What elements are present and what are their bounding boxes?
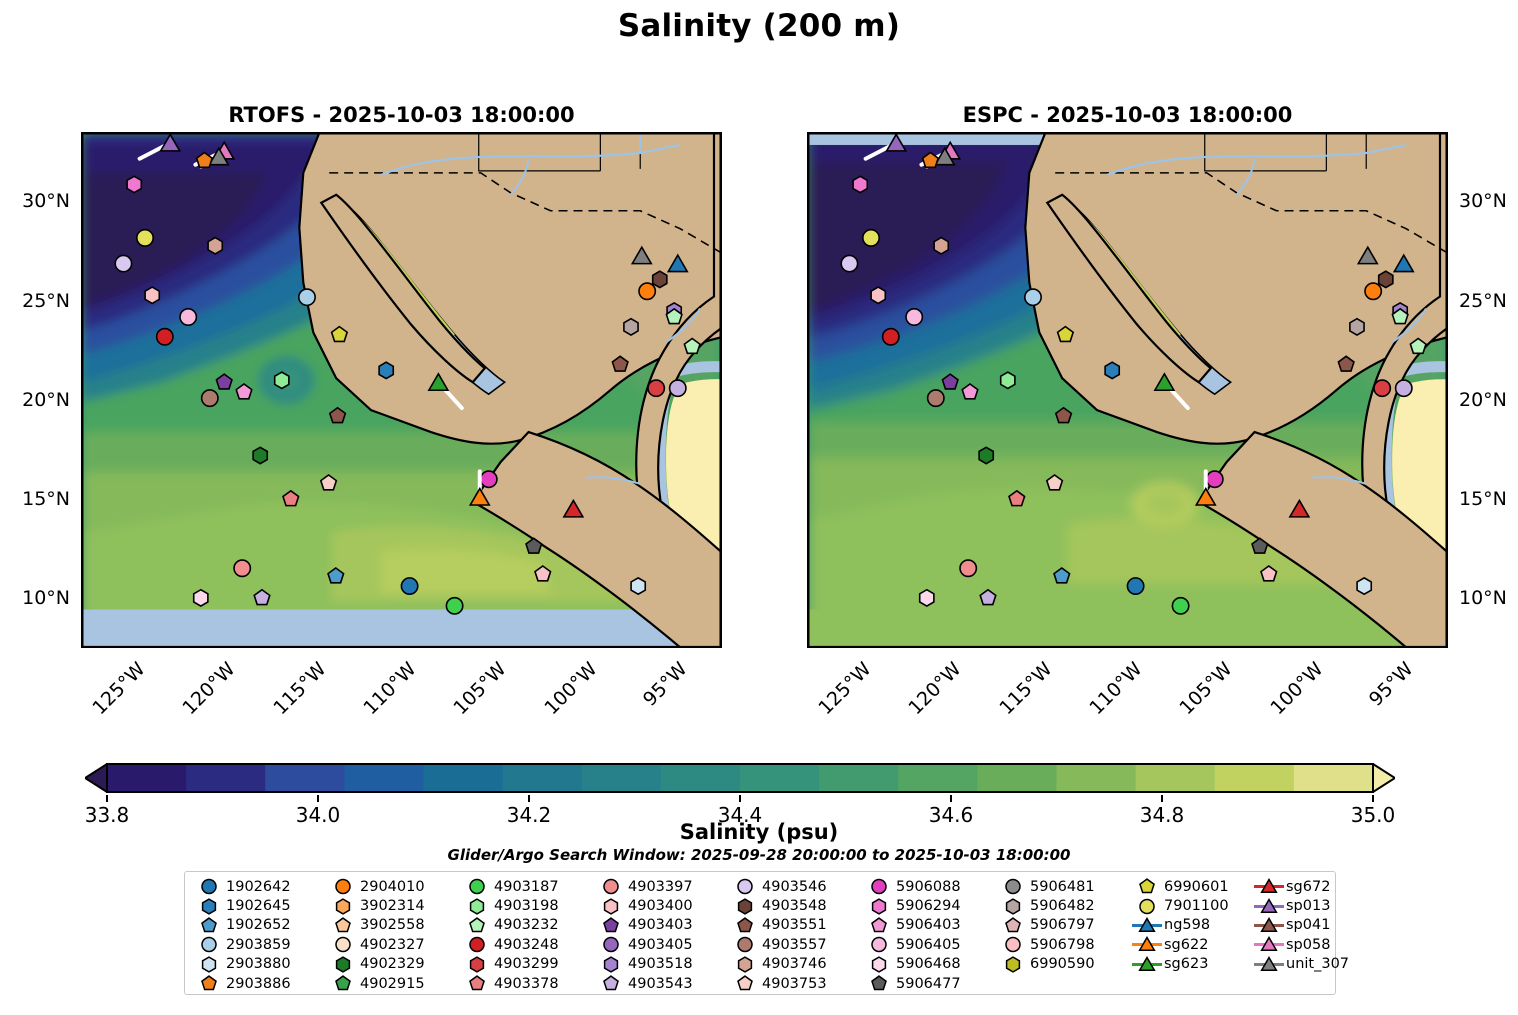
observation-marker-4903232b[interactable] — [684, 338, 700, 353]
y-tick-minor — [721, 380, 722, 381]
legend-item-4902329[interactable]: 4902329 — [326, 955, 460, 974]
y-tick-minor — [81, 162, 82, 163]
x-tick-minor — [1340, 132, 1341, 133]
colorbar-band — [1057, 764, 1137, 792]
observation-marker-4902329[interactable] — [253, 447, 267, 463]
colorbar-band — [344, 764, 424, 792]
observation-marker-4903543[interactable] — [980, 590, 996, 605]
y-tick-minor — [807, 242, 808, 243]
legend-item-4903546[interactable]: 4903546 — [728, 877, 862, 896]
observation-marker-4903548[interactable] — [653, 271, 667, 287]
y-tick-minor — [721, 579, 722, 580]
observation-marker-4903557[interactable] — [928, 390, 944, 406]
observation-marker-4903543[interactable] — [254, 590, 270, 605]
y-tick-minor — [721, 222, 722, 223]
x-tick-minor — [560, 647, 561, 648]
legend-item-6990601[interactable]: 6990601 — [1130, 877, 1252, 896]
map-rtofs[interactable] — [81, 132, 722, 648]
observation-marker-unit_307[interactable] — [1358, 247, 1377, 263]
legend-label: unit_307 — [1286, 956, 1349, 972]
y-tick — [1447, 400, 1448, 402]
observation-marker-1902642[interactable] — [1127, 578, 1143, 594]
x-tick-top — [1213, 132, 1215, 133]
y-tick-minor — [807, 222, 808, 223]
legend-item-sp041[interactable]: sp041 — [1252, 916, 1349, 935]
x-tick-top — [1123, 132, 1125, 133]
legend-item-2903886[interactable]: 2903886 — [192, 974, 326, 993]
legend-item-4902915[interactable]: 4902915 — [326, 974, 460, 993]
legend-label: 5906482 — [1030, 898, 1130, 914]
legend-item-sp058[interactable]: sp058 — [1252, 935, 1349, 954]
legend-item-4903299[interactable]: 4903299 — [460, 955, 594, 974]
x-tick-label: 125°W — [88, 658, 149, 719]
x-tick-minor — [1105, 132, 1106, 133]
x-tick-minor — [433, 132, 434, 133]
legend-item-5906468[interactable]: 5906468 — [862, 955, 996, 974]
y-tick-minor — [721, 142, 722, 143]
legend-swatch-circle-icon — [996, 935, 1030, 954]
legend-label: 5906405 — [896, 937, 996, 953]
observation-marker-sp013[interactable] — [161, 134, 180, 150]
x-tick-minor — [415, 647, 416, 648]
observation-marker-sg622[interactable] — [470, 489, 489, 505]
y-tick-minor — [1447, 281, 1448, 282]
y-tick — [807, 301, 808, 303]
x-tick — [126, 647, 128, 648]
observation-marker-sg672[interactable] — [1290, 500, 1309, 516]
observation-marker-5906405[interactable] — [180, 309, 196, 325]
legend-item-4903557[interactable]: 4903557 — [728, 935, 862, 954]
y-tick-minor — [807, 619, 808, 620]
y-tick-minor — [807, 440, 808, 441]
observation-marker-7901100[interactable] — [137, 230, 153, 246]
colorbar-band — [265, 764, 345, 792]
observation-marker-5906482[interactable] — [624, 319, 638, 335]
legend-label: 4903405 — [628, 937, 728, 953]
observation-marker-4903400b[interactable] — [1261, 566, 1277, 581]
y-tick-minor — [1447, 559, 1448, 560]
observation-marker-unit_307[interactable] — [632, 247, 651, 263]
observation-marker-4903403[interactable] — [216, 374, 232, 389]
legend-swatch-hexagon-icon — [728, 897, 762, 916]
y-tick-minor — [1447, 519, 1448, 520]
x-tick-minor — [145, 132, 146, 133]
observation-marker-5906468[interactable] — [920, 590, 934, 606]
legend-item-4903405[interactable]: 4903405 — [594, 935, 728, 954]
observation-marker-4903405[interactable] — [1396, 380, 1412, 396]
y-tick — [721, 499, 722, 501]
legend-item-4903543[interactable]: 4903543 — [594, 974, 728, 993]
y-tick-minor — [81, 222, 82, 223]
legend-item-4903400[interactable]: 4903400 — [594, 896, 728, 915]
x-tick-minor — [907, 647, 908, 648]
observation-marker-4903551b[interactable] — [1338, 356, 1354, 371]
observation-marker-5906482[interactable] — [1350, 319, 1364, 335]
y-tick-minor — [1447, 579, 1448, 580]
x-tick-minor — [704, 647, 705, 648]
legend-label: sg672 — [1286, 879, 1330, 895]
legend-label: 4903378 — [494, 976, 594, 992]
legend-label: 5906403 — [896, 917, 996, 933]
colorbar-band — [740, 764, 820, 792]
y-tick-minor — [807, 321, 808, 322]
y-tick-minor — [807, 281, 808, 282]
legend-item-5906405[interactable]: 5906405 — [862, 935, 996, 954]
x-tick — [943, 647, 945, 648]
y-tick-label: 10°N — [22, 587, 70, 609]
legend-item-4903248[interactable]: 4903248 — [460, 935, 594, 954]
observation-marker-7901100[interactable] — [863, 230, 879, 246]
legend-item-sp013[interactable]: sp013 — [1252, 896, 1349, 915]
legend-label: sp058 — [1286, 937, 1330, 953]
x-tick-minor — [325, 132, 326, 133]
legend-label: 2903859 — [226, 937, 326, 953]
y-tick-minor — [807, 162, 808, 163]
observation-marker-5906088[interactable] — [1207, 471, 1223, 487]
x-tick-minor — [1322, 647, 1323, 648]
x-tick — [1123, 647, 1125, 648]
observation-marker-4903548[interactable] — [1379, 271, 1393, 287]
x-tick-top — [852, 132, 854, 133]
observation-marker-1902645[interactable] — [379, 362, 393, 378]
y-tick-minor — [1447, 261, 1448, 262]
colorbar-band — [424, 764, 504, 792]
legend-label: 4903232 — [494, 917, 594, 933]
observation-marker-4903405[interactable] — [670, 380, 686, 396]
y-tick — [721, 400, 722, 402]
legend-label: 4903548 — [762, 898, 862, 914]
observation-marker-1902642[interactable] — [401, 578, 417, 594]
panel-rtofs-title: RTOFS - 2025-10-03 18:00:00 — [81, 103, 722, 132]
observation-marker-sp013[interactable] — [887, 134, 906, 150]
observation-marker-2903859[interactable] — [1025, 289, 1041, 305]
observation-marker-4903400b[interactable] — [535, 566, 551, 581]
y-tick-minor — [807, 182, 808, 183]
legend-swatch-hexagon-icon — [996, 897, 1030, 916]
legend-column-3: 4903187490319849032324903248490329949033… — [460, 877, 594, 993]
observation-marker-5906477[interactable] — [1252, 538, 1268, 553]
x-tick-label: 110°W — [359, 658, 420, 719]
x-tick-label: 115°W — [995, 658, 1056, 719]
legend-column-9: sg672sp013sp041sp058unit_307 — [1252, 877, 1349, 993]
observation-marker-5906088[interactable] — [481, 471, 497, 487]
panel-espc: ESPC - 2025-10-03 18:00:00 — [807, 132, 1448, 648]
legend-item-3902314[interactable]: 3902314 — [326, 896, 460, 915]
legend-item-5906798[interactable]: 5906798 — [996, 935, 1130, 954]
legend-item-sg672[interactable]: sg672 — [1252, 877, 1349, 896]
legend-item-5906294[interactable]: 5906294 — [862, 896, 996, 915]
x-tick-label: 105°W — [1176, 658, 1237, 719]
y-tick-minor — [1447, 440, 1448, 441]
colorbar-band — [819, 764, 899, 792]
observation-marker-1902652[interactable] — [1054, 568, 1070, 583]
observation-marker-1902645[interactable] — [1105, 362, 1119, 378]
observation-marker-4903551[interactable] — [330, 408, 346, 423]
legend-item-1902652[interactable]: 1902652 — [192, 916, 326, 935]
x-tick-minor — [1141, 647, 1142, 648]
y-tick-minor — [81, 361, 82, 362]
observation-marker-1902652[interactable] — [328, 568, 344, 583]
y-tick-minor — [81, 261, 82, 262]
observation-marker-5906477[interactable] — [526, 538, 542, 553]
legend-item-4903753[interactable]: 4903753 — [728, 974, 862, 993]
legend-swatch-hexagon-icon — [996, 955, 1030, 974]
x-tick-minor — [816, 132, 817, 133]
observation-marker-4903232b[interactable] — [1410, 338, 1426, 353]
legend-label: 4902329 — [360, 956, 460, 972]
x-tick-minor — [596, 132, 597, 133]
x-tick-minor — [889, 647, 890, 648]
y-tick-minor — [721, 539, 722, 540]
legend-label: 4903746 — [762, 956, 862, 972]
legend-swatch-triangle-line-icon — [1252, 935, 1286, 954]
y-tick-minor — [1447, 162, 1448, 163]
observation-marker-4903546[interactable] — [115, 255, 131, 271]
x-tick-minor — [90, 647, 91, 648]
y-tick-minor — [721, 261, 722, 262]
legend-label: 4903198 — [494, 898, 594, 914]
observation-marker-sg623[interactable] — [1155, 374, 1174, 390]
legend-label: sg622 — [1164, 937, 1252, 953]
y-tick-minor — [1447, 380, 1448, 381]
legend-label: 5906294 — [896, 898, 996, 914]
x-tick-minor — [686, 132, 687, 133]
y-tick — [81, 499, 82, 501]
legend-label: 4902915 — [360, 976, 460, 992]
legend-label: 1902645 — [226, 898, 326, 914]
legend-item-unit_307[interactable]: unit_307 — [1252, 955, 1349, 974]
legend-item-4903518[interactable]: 4903518 — [594, 955, 728, 974]
y-tick — [721, 202, 722, 204]
observation-marker-2903886[interactable] — [923, 153, 939, 168]
legend-label: sp013 — [1286, 898, 1330, 914]
figure-title: Salinity (200 m) — [0, 8, 1518, 44]
legend-item-2903880[interactable]: 2903880 — [192, 955, 326, 974]
observation-marker-4903198[interactable] — [1001, 372, 1015, 388]
legend-label: 4903248 — [494, 937, 594, 953]
observation-marker-sg623[interactable] — [429, 374, 448, 390]
observation-markers-rtofs[interactable] — [82, 133, 721, 647]
x-tick-minor — [1268, 647, 1269, 648]
x-tick-minor — [379, 132, 380, 133]
observation-marker-2903886[interactable] — [197, 153, 213, 168]
legend-item-4903403[interactable]: 4903403 — [594, 916, 728, 935]
observation-marker-4903753[interactable] — [1047, 475, 1063, 490]
x-tick-minor — [1141, 132, 1142, 133]
observation-marker-5906403[interactable] — [962, 384, 978, 399]
legend-item-4903232[interactable]: 4903232 — [460, 916, 594, 935]
legend-swatch-hexagon-icon — [728, 955, 762, 974]
legend-item-3902558[interactable]: 3902558 — [326, 916, 460, 935]
observation-marker-4902329[interactable] — [979, 447, 993, 463]
observation-marker-5906294[interactable] — [853, 176, 867, 192]
x-tick-minor — [1159, 647, 1160, 648]
y-tick-minor — [81, 341, 82, 342]
observation-marker-4903248[interactable] — [883, 329, 899, 345]
legend-item-5906477[interactable]: 5906477 — [862, 974, 996, 993]
legend-label: 1902652 — [226, 917, 326, 933]
x-tick — [1213, 647, 1215, 648]
legend-item-sg622[interactable]: sg622 — [1130, 935, 1252, 954]
observation-marker-4903400[interactable] — [145, 287, 159, 303]
x-tick-minor — [1069, 132, 1070, 133]
y-tick — [1447, 202, 1448, 204]
legend-swatch-circle-icon — [326, 877, 360, 896]
legend-item-1902642[interactable]: 1902642 — [192, 877, 326, 896]
x-tick-minor — [997, 647, 998, 648]
y-tick — [1447, 301, 1448, 303]
observation-marker-2904010[interactable] — [1365, 283, 1381, 299]
y-tick-minor — [1447, 222, 1448, 223]
observation-marker-sg672[interactable] — [564, 500, 583, 516]
observation-marker-sg622[interactable] — [1196, 489, 1215, 505]
observation-marker-5906468[interactable] — [194, 590, 208, 606]
observation-marker-4903397[interactable] — [960, 560, 976, 576]
legend-item-2904010[interactable]: 2904010 — [326, 877, 460, 896]
x-tick — [1394, 647, 1396, 648]
legend-item-4903548[interactable]: 4903548 — [728, 896, 862, 915]
x-tick-label: 110°W — [1085, 658, 1146, 719]
legend-item-5906797[interactable]: 5906797 — [996, 916, 1130, 935]
legend-item-7901100[interactable]: 7901100 — [1130, 896, 1252, 915]
x-tick — [668, 647, 670, 648]
legend-item-6990590[interactable]: 6990590 — [996, 955, 1130, 974]
observation-marker-4903403[interactable] — [942, 374, 958, 389]
y-tick-minor — [807, 559, 808, 560]
x-tick-minor — [1250, 132, 1251, 133]
x-tick-minor — [1232, 647, 1233, 648]
map-espc[interactable] — [807, 132, 1448, 648]
observation-marker-4903187[interactable] — [1172, 598, 1188, 614]
observation-marker-5906405[interactable] — [906, 309, 922, 325]
legend-label: 6990590 — [1030, 956, 1130, 972]
y-tick-minor — [807, 142, 808, 143]
observation-marker-4903551b[interactable] — [612, 356, 628, 371]
observation-marker-4903248[interactable] — [157, 329, 173, 345]
observation-marker-4903746[interactable] — [208, 238, 222, 254]
y-tick-minor — [81, 638, 82, 639]
legend-swatch-hexagon-icon — [862, 897, 896, 916]
observation-marker-ng598[interactable] — [1394, 255, 1413, 271]
y-tick-minor — [1447, 182, 1448, 183]
x-tick-minor — [1015, 132, 1016, 133]
y-tick-minor — [721, 480, 722, 481]
observation-marker-6990601[interactable] — [1058, 327, 1074, 342]
colorbar-band — [661, 764, 741, 792]
legend-swatch-pentagon-icon — [460, 974, 494, 993]
observation-marker-6990601[interactable] — [332, 327, 348, 342]
observation-marker-4903753[interactable] — [321, 475, 337, 490]
x-tick — [307, 647, 309, 648]
observation-marker-5906294[interactable] — [127, 176, 141, 192]
y-tick-minor — [1447, 460, 1448, 461]
legend-swatch-pentagon-icon — [594, 916, 628, 935]
legend-item-5906481[interactable]: 5906481 — [996, 877, 1130, 896]
y-tick-minor — [81, 182, 82, 183]
x-tick-top — [1394, 132, 1396, 133]
observation-marker-2903880[interactable] — [1357, 578, 1371, 594]
observation-marker-2903880[interactable] — [631, 578, 645, 594]
legend-item-ng598[interactable]: ng598 — [1130, 916, 1252, 935]
x-tick-minor — [871, 647, 872, 648]
x-tick-top — [668, 132, 670, 133]
y-tick — [807, 202, 808, 204]
observation-marker-5906403[interactable] — [236, 384, 252, 399]
legend-label: 5906481 — [1030, 879, 1130, 895]
observation-marker-4903557[interactable] — [202, 390, 218, 406]
observation-marker-4903551[interactable] — [1056, 408, 1072, 423]
x-tick-top — [126, 132, 128, 133]
observation-marker-4903378[interactable] — [283, 491, 299, 506]
legend-item-4903551[interactable]: 4903551 — [728, 916, 862, 935]
y-tick-minor — [807, 361, 808, 362]
observation-marker-4903378[interactable] — [1009, 491, 1025, 506]
legend-item-4903378[interactable]: 4903378 — [460, 974, 594, 993]
observation-marker-4903546[interactable] — [841, 255, 857, 271]
legend-item-4903746[interactable]: 4903746 — [728, 955, 862, 974]
legend-label: ng598 — [1164, 917, 1252, 933]
legend-swatch-hexagon-icon — [594, 955, 628, 974]
observation-marker-4903187[interactable] — [446, 598, 462, 614]
observation-marker-4903746[interactable] — [934, 238, 948, 254]
legend-swatch-triangle-line-icon — [1130, 935, 1164, 954]
legend-item-4903187[interactable]: 4903187 — [460, 877, 594, 896]
legend-label: 4903397 — [628, 879, 728, 895]
legend-item-sg623[interactable]: sg623 — [1130, 955, 1252, 974]
legend-item-4903198[interactable]: 4903198 — [460, 896, 594, 915]
legend-item-5906088[interactable]: 5906088 — [862, 877, 996, 896]
x-tick-minor — [235, 647, 236, 648]
y-tick-minor — [721, 440, 722, 441]
legend-item-5906403[interactable]: 5906403 — [862, 916, 996, 935]
x-tick-minor — [907, 132, 908, 133]
y-tick-minor — [721, 460, 722, 461]
colorbar-band — [977, 764, 1057, 792]
x-tick-minor — [596, 647, 597, 648]
observation-marker-ng598[interactable] — [668, 255, 687, 271]
x-tick-minor — [1232, 132, 1233, 133]
x-tick-minor — [1069, 647, 1070, 648]
legend-swatch-hexagon-icon — [460, 955, 494, 974]
observation-marker-4903299[interactable] — [648, 380, 664, 396]
observation-markers-espc[interactable] — [808, 133, 1447, 647]
legend-item-5906482[interactable]: 5906482 — [996, 896, 1130, 915]
legend-swatch-circle-icon — [996, 877, 1030, 896]
observation-marker-2903859[interactable] — [299, 289, 315, 305]
observation-marker-2904010[interactable] — [639, 283, 655, 299]
legend-swatch-pentagon-icon — [460, 916, 494, 935]
x-tick-minor — [343, 647, 344, 648]
x-tick-minor — [1087, 647, 1088, 648]
observation-marker-4903400[interactable] — [871, 287, 885, 303]
x-tick-label: 120°W — [179, 658, 240, 719]
y-tick-minor — [807, 480, 808, 481]
observation-marker-4903299[interactable] — [1374, 380, 1390, 396]
legend-item-1902645[interactable]: 1902645 — [192, 896, 326, 915]
x-tick — [217, 647, 219, 648]
legend-item-4903397[interactable]: 4903397 — [594, 877, 728, 896]
observation-marker-4903198[interactable] — [275, 372, 289, 388]
y-tick-minor — [721, 242, 722, 243]
legend-label: 4903187 — [494, 879, 594, 895]
legend-label: 4903400 — [628, 898, 728, 914]
legend-item-2903859[interactable]: 2903859 — [192, 935, 326, 954]
observation-marker-4903397[interactable] — [234, 560, 250, 576]
y-tick-minor — [81, 519, 82, 520]
x-tick-minor — [542, 647, 543, 648]
legend-item-4902327[interactable]: 4902327 — [326, 935, 460, 954]
x-tick-minor — [1015, 647, 1016, 648]
